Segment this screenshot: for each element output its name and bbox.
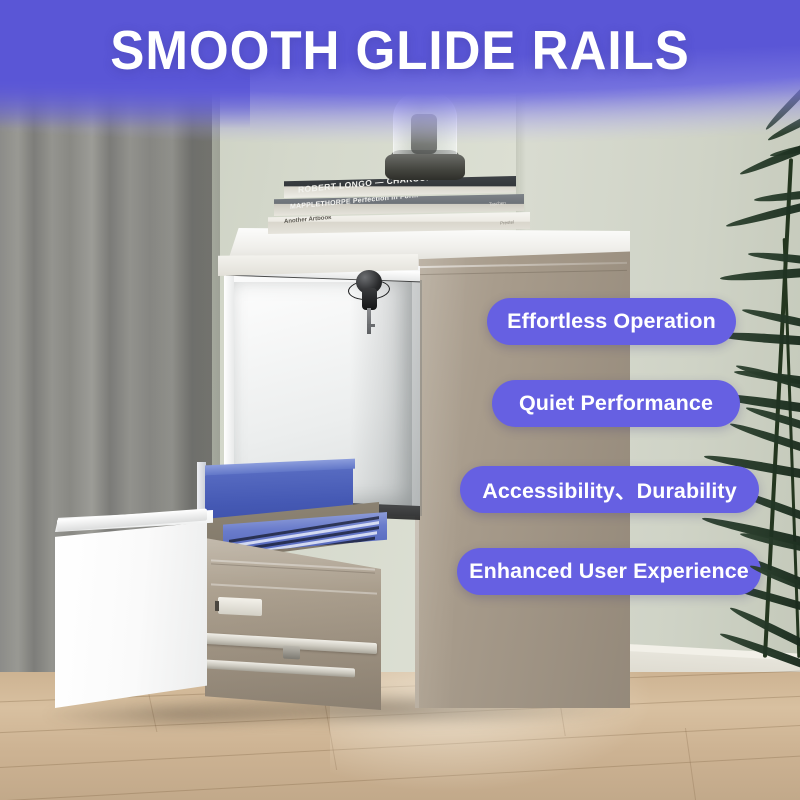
book-stack: Another Artbook Prestel MAPPLETHORPE Per… <box>268 176 568 240</box>
product-marketing-image: Another Artbook Prestel MAPPLETHORPE Per… <box>0 0 800 800</box>
open-drawer[interactable] <box>55 478 475 708</box>
glide-rail-bearing <box>283 645 300 659</box>
book-bottom: Another Artbook Prestel <box>268 212 530 234</box>
book-middle-publisher: Taschen <box>489 200 506 207</box>
key-head-icon[interactable] <box>362 288 377 310</box>
book-bottom-publisher: Prestel <box>500 219 514 225</box>
feature-pill-enhanced-user-experience[interactable]: Enhanced User Experience <box>457 548 761 595</box>
rail-detent-hole <box>215 601 219 611</box>
page-title: SMOOTH GLIDE RAILS <box>28 18 772 82</box>
feature-pill-accessibility-durability[interactable]: Accessibility、Durability <box>460 466 759 513</box>
book-bottom-title: Another Artbook <box>284 215 331 225</box>
key-teeth-icon <box>367 324 375 327</box>
feature-pill-effortless-operation[interactable]: Effortless Operation <box>487 298 736 345</box>
rail-detent-plate <box>218 597 262 616</box>
drawer-front-panel[interactable] <box>55 522 207 708</box>
feature-pill-quiet-performance[interactable]: Quiet Performance <box>492 380 740 427</box>
key-blade-icon <box>367 308 371 334</box>
